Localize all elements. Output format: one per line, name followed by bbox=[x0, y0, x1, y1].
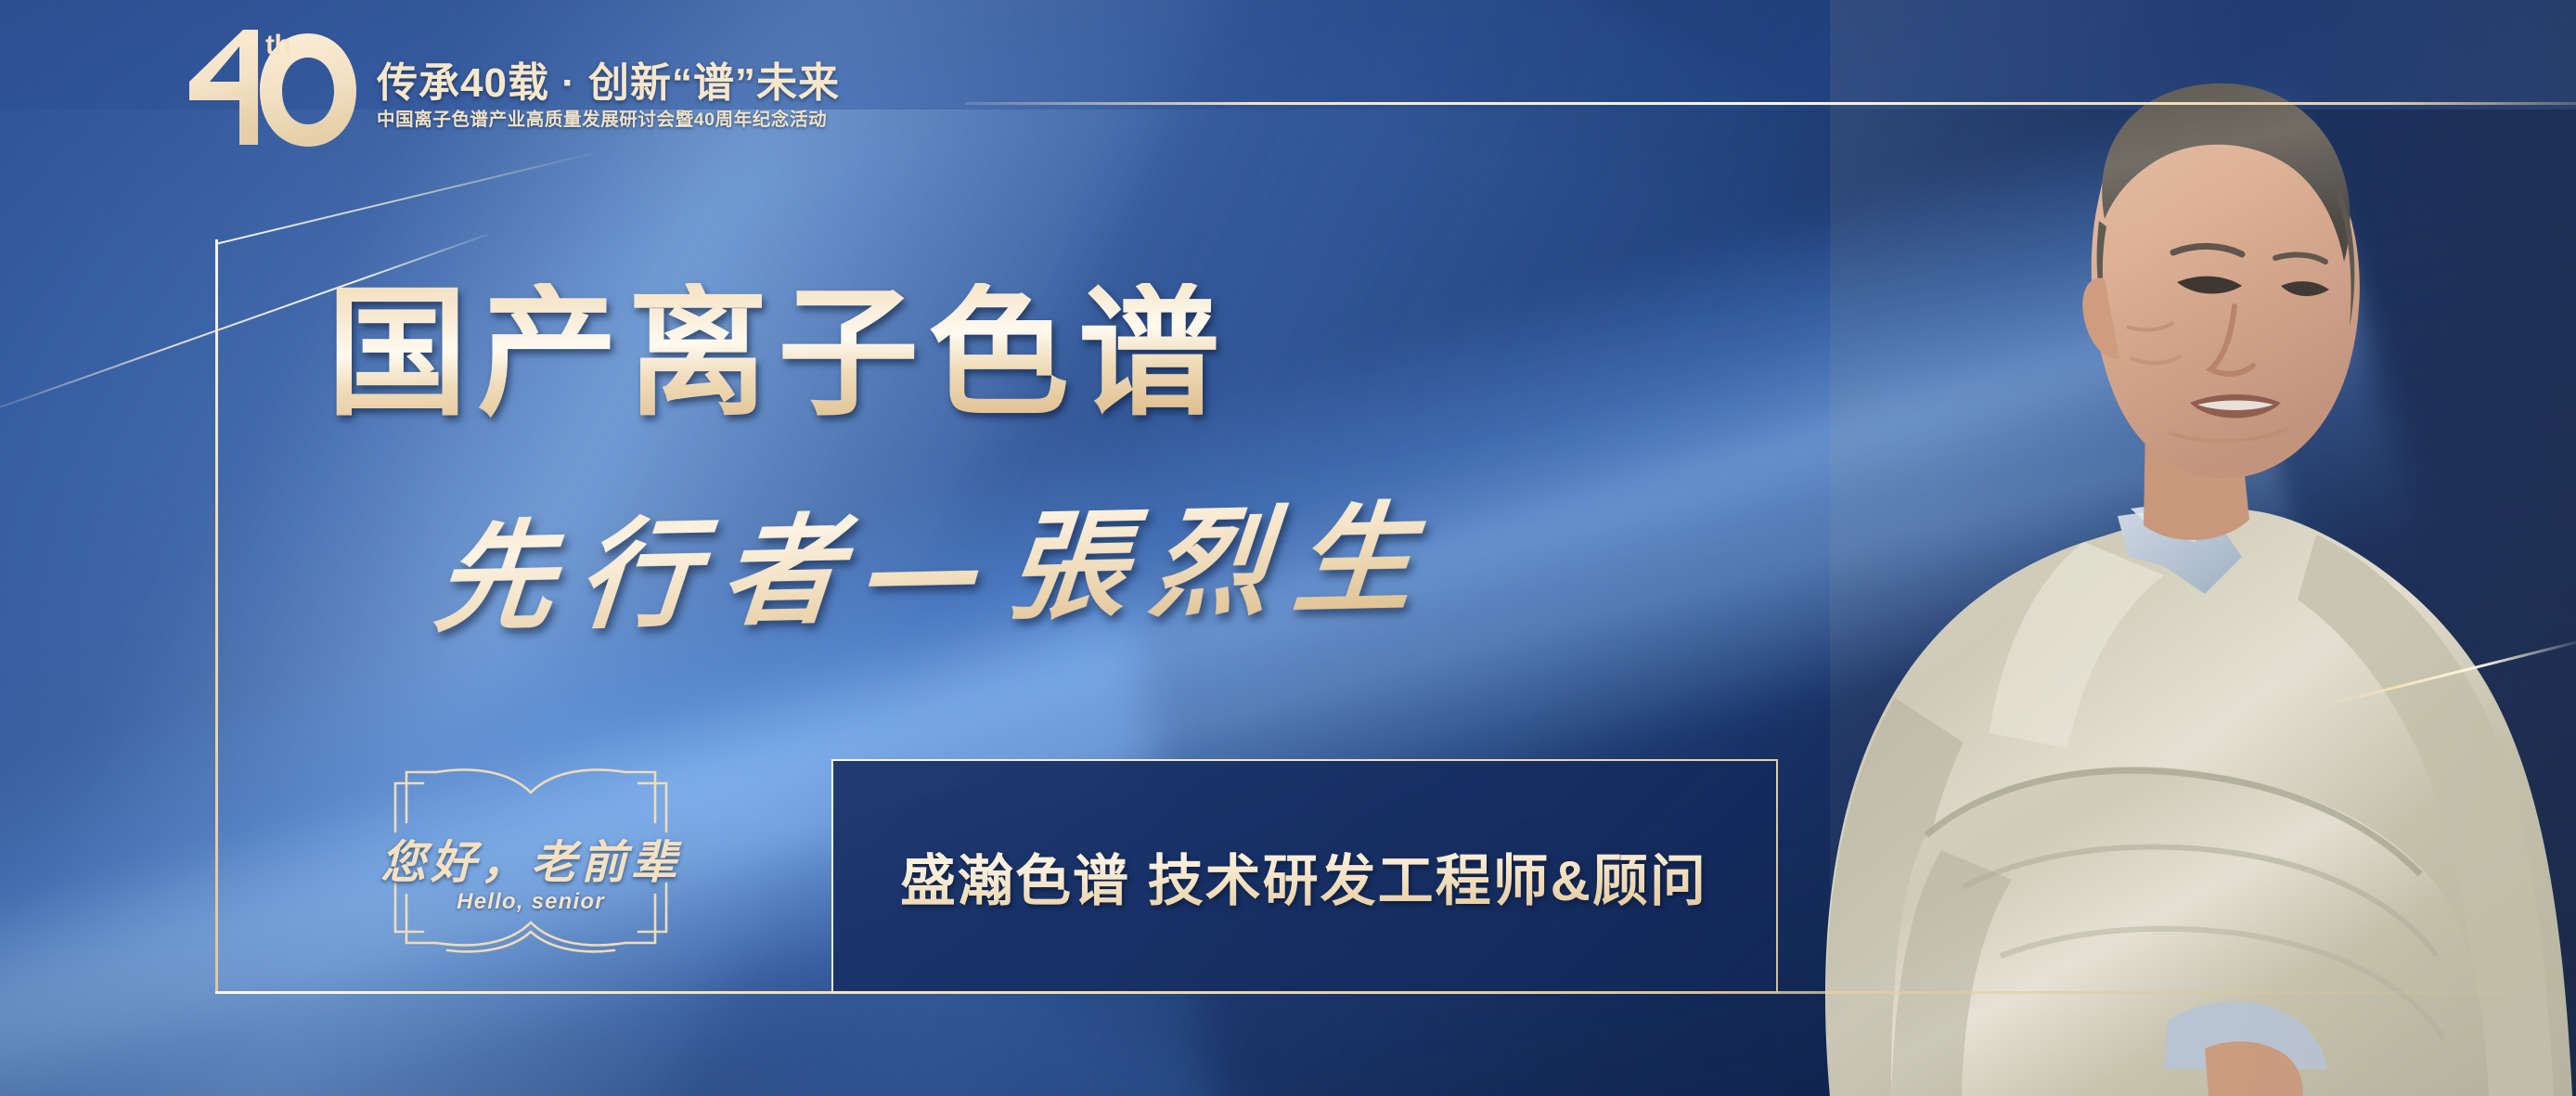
anniversary-slogan: 传承40载 · 创新“谱”未来 bbox=[377, 61, 840, 106]
anniversary-40th-mark-icon: th bbox=[186, 24, 360, 150]
credential-box: 盛瀚色谱 技术研发工程师&顾问 bbox=[831, 759, 1778, 993]
gold-horizontal-rule bbox=[965, 102, 2576, 105]
promotional-banner: th 传承40载 · 创新“谱”未来 中国离子色谱产业高质量发展研讨会暨40周年… bbox=[0, 0, 2576, 1096]
credential-label: 盛瀚色谱 技术研发工程师&顾问 bbox=[833, 836, 1707, 917]
gold-frame-vertical-line bbox=[215, 239, 218, 993]
calligraphy-subtitle: 先行者—張烈生 bbox=[430, 491, 1444, 649]
anniversary-logo-lockup: th 传承40载 · 创新“谱”未来 中国离子色谱产业高质量发展研讨会暨40周年… bbox=[186, 24, 840, 150]
anniversary-event-subline: 中国离子色谱产业高质量发展研讨会暨40周年纪念活动 bbox=[377, 110, 840, 130]
hello-senior-emblem: 您好，老前辈 Hello, senior bbox=[369, 759, 692, 956]
page-title: 国产离子色谱 bbox=[327, 283, 1229, 424]
emblem-english-label: Hello, senior bbox=[371, 889, 690, 915]
anniversary-ordinal-label: th bbox=[265, 30, 290, 61]
emblem-chinese-label: 您好，老前辈 bbox=[371, 826, 690, 892]
anniversary-text-block: 传承40载 · 创新“谱”未来 中国离子色谱产业高质量发展研讨会暨40周年纪念活… bbox=[377, 45, 840, 130]
